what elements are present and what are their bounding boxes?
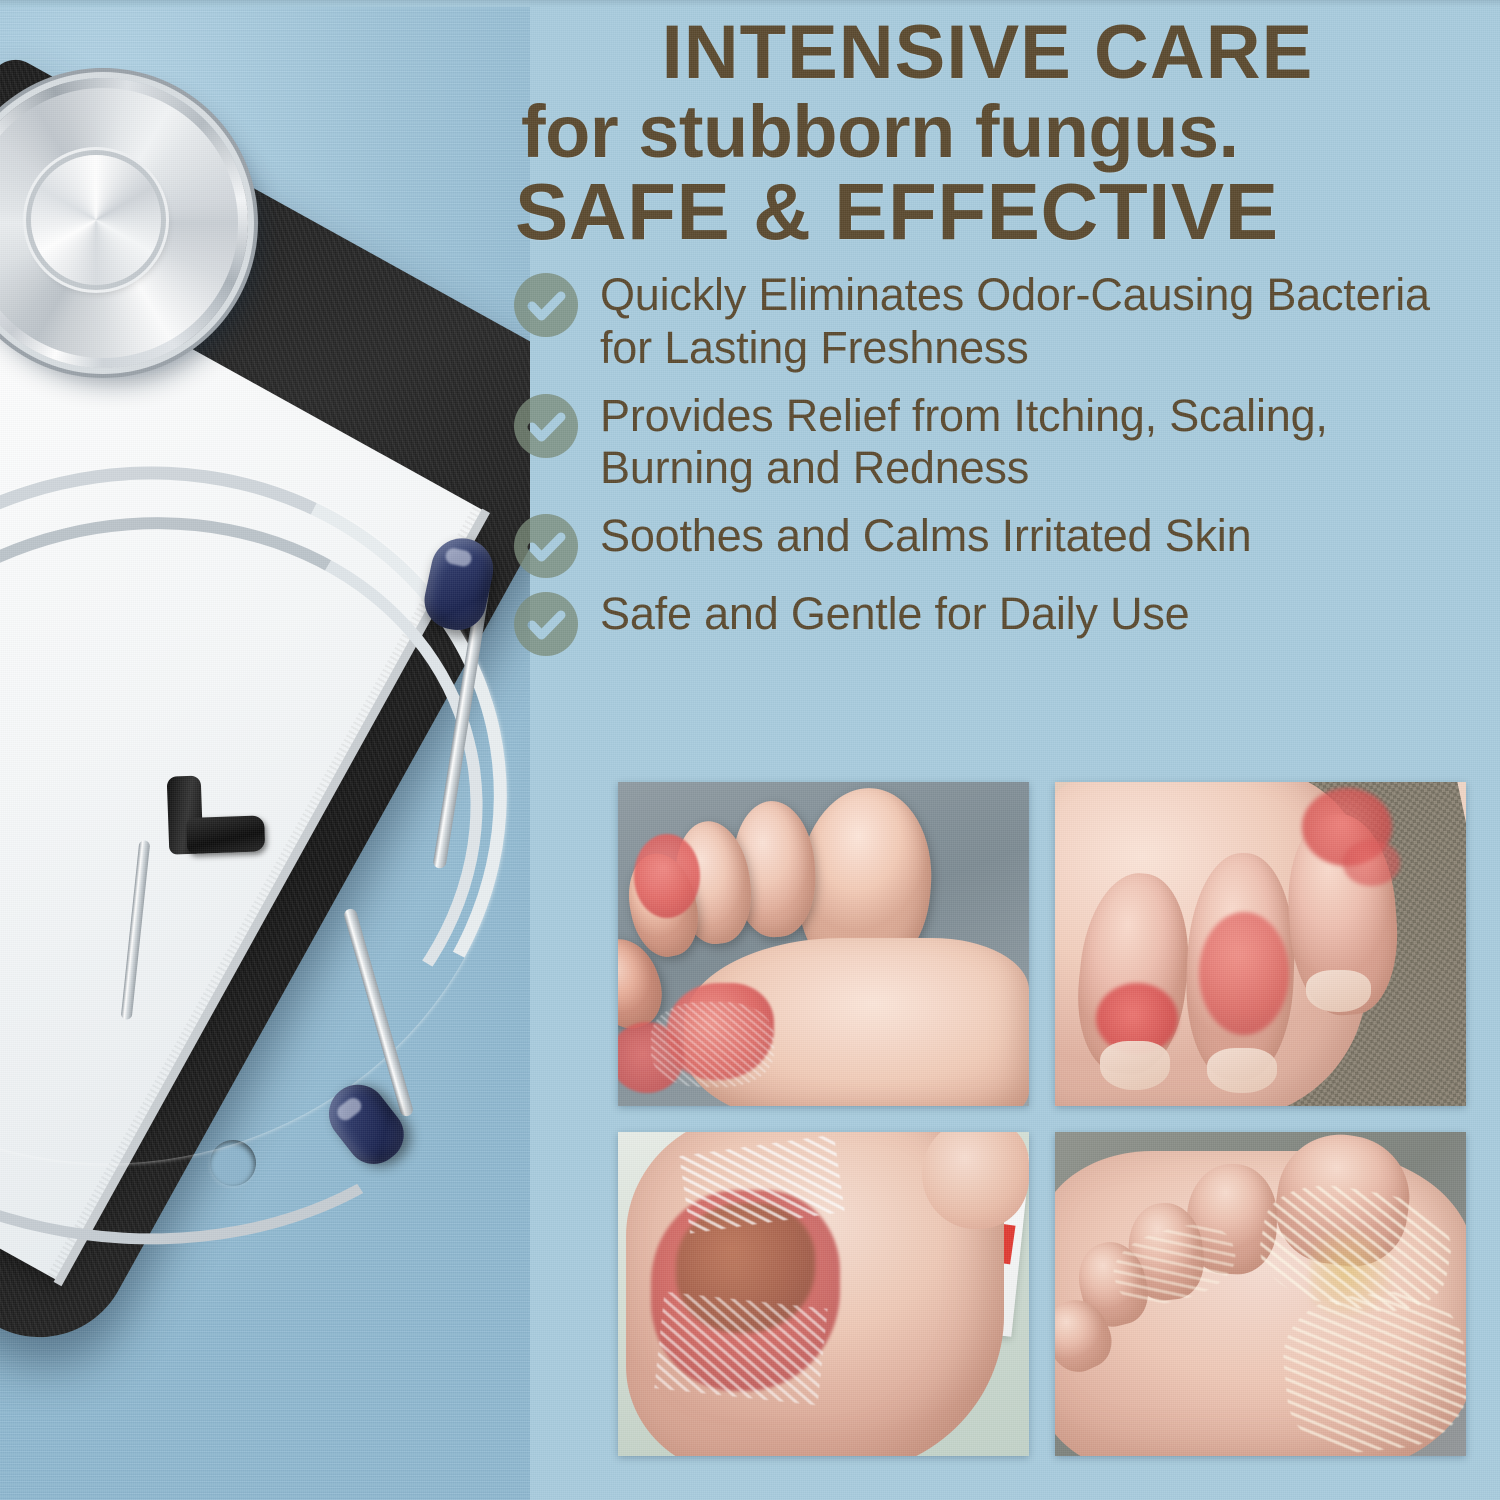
photo-inflamed-toes xyxy=(1055,782,1466,1106)
ear-tip-highlight xyxy=(334,1095,364,1124)
stethoscope-chest-piece-hub xyxy=(31,155,161,285)
content-column: INTENSIVE CARE for stubborn fungus. SAFE… xyxy=(510,0,1500,1500)
redness-shape xyxy=(1343,840,1401,885)
toenail-shape xyxy=(1207,1048,1277,1093)
check-circle-icon xyxy=(514,394,578,458)
headline-line-3: SAFE & EFFECTIVE xyxy=(515,173,1470,251)
redness-shape xyxy=(1199,912,1289,1035)
top-edge-shade xyxy=(0,0,1500,7)
product-infographic: INTENSIVE CARE for stubborn fungus. SAFE… xyxy=(0,0,1500,1500)
benefit-label: Provides Relief from Itching, Scaling, B… xyxy=(600,390,1470,494)
photo-scaly-foot xyxy=(1055,1132,1466,1456)
check-circle-icon xyxy=(514,273,578,337)
ear-tip-highlight xyxy=(444,547,473,568)
stethoscope-connector xyxy=(167,773,266,854)
benefit-label: Quickly Eliminates Odor-Causing Bacteria… xyxy=(600,269,1470,373)
lesion-shape xyxy=(634,834,700,918)
check-circle-icon xyxy=(514,514,578,578)
benefit-label: Soothes and Calms Irritated Skin xyxy=(600,510,1251,562)
benefit-item: Soothes and Calms Irritated Skin xyxy=(514,510,1500,578)
toenail-shape xyxy=(1306,970,1372,1012)
benefit-item: Provides Relief from Itching, Scaling, B… xyxy=(514,390,1500,494)
skin-flaking-texture xyxy=(654,1292,828,1406)
benefit-item: Quickly Eliminates Odor-Causing Bacteria… xyxy=(514,269,1500,373)
benefit-label: Safe and Gentle for Daily Use xyxy=(600,588,1190,640)
benefits-list: Quickly Eliminates Odor-Causing Bacteria… xyxy=(510,269,1500,656)
stethoscope-clipboard-photo xyxy=(0,0,530,1500)
headline-line-2: for stubborn fungus. xyxy=(515,96,1470,169)
photo-scaling-sole xyxy=(618,1132,1029,1456)
headline-line-1: INTENSIVE CARE xyxy=(515,16,1470,90)
toenail-shape xyxy=(1100,1041,1170,1090)
condition-photo-grid xyxy=(618,782,1466,1456)
photo-foot-sole-toes xyxy=(618,782,1029,1106)
skin-scaling-texture xyxy=(651,1002,774,1086)
check-circle-icon xyxy=(514,592,578,656)
headline-block: INTENSIVE CARE for stubborn fungus. SAFE… xyxy=(510,0,1500,251)
benefit-item: Safe and Gentle for Daily Use xyxy=(514,588,1500,656)
